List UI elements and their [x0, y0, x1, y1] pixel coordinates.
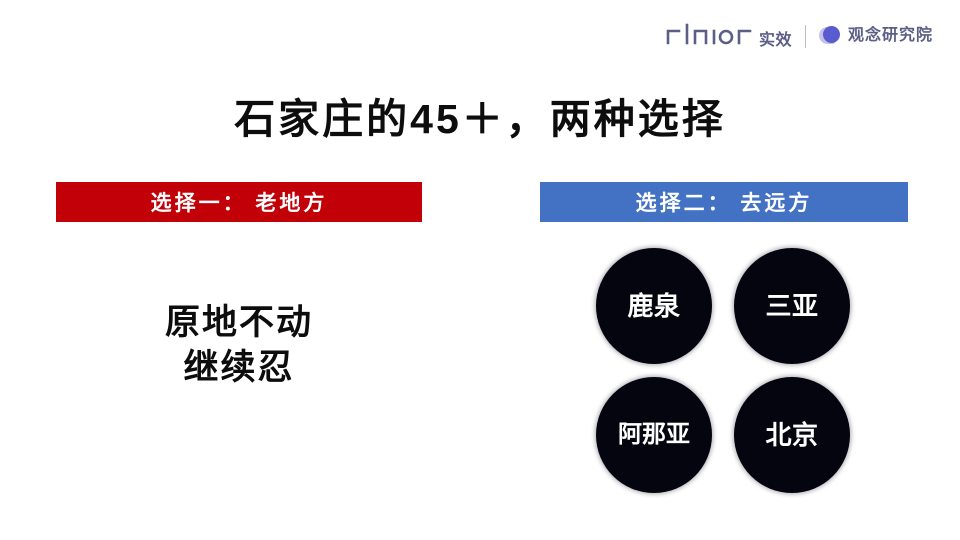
destination-label: 北京	[765, 422, 818, 448]
destination-label: 阿那亚	[618, 423, 690, 447]
brand-logo-institute: 观念研究院	[819, 26, 933, 47]
brand-wordmark-cn: 实效	[759, 33, 792, 49]
speech-bubble-icon	[819, 26, 840, 47]
option-one-line-2: 继续忍	[56, 346, 422, 391]
brand-institute-label: 观念研究院	[848, 28, 933, 44]
option-one-banner: 选择一： 老地方	[56, 182, 422, 222]
brand-divider	[805, 25, 806, 48]
option-two-column: 选择二： 去远方 鹿泉 三亚 阿那亚 北京	[540, 182, 908, 493]
thior-wordmark-icon	[666, 23, 752, 45]
destination-circle: 三亚	[734, 248, 850, 364]
destination-label: 三亚	[765, 293, 818, 319]
option-one-column: 选择一： 老地方 原地不动 继续忍	[56, 182, 422, 391]
destination-circle-grid: 鹿泉 三亚 阿那亚 北京	[540, 248, 908, 493]
option-one-body: 原地不动 继续忍	[56, 301, 422, 391]
option-one-line-1: 原地不动	[56, 301, 422, 346]
destination-circle: 北京	[734, 377, 850, 493]
destination-circle: 鹿泉	[596, 248, 712, 364]
brand-bar: 实效 观念研究院	[666, 20, 933, 52]
destination-circle: 阿那亚	[596, 377, 712, 493]
slide-canvas: 实效 观念研究院 石家庄的45＋，两种选择 选择一： 老地方 原地不动 继续忍 …	[0, 0, 960, 540]
brand-logo-primary: 实效	[666, 23, 792, 49]
destination-label: 鹿泉	[627, 293, 680, 319]
page-title: 石家庄的45＋，两种选择	[0, 96, 960, 143]
option-two-banner: 选择二： 去远方	[540, 182, 908, 222]
